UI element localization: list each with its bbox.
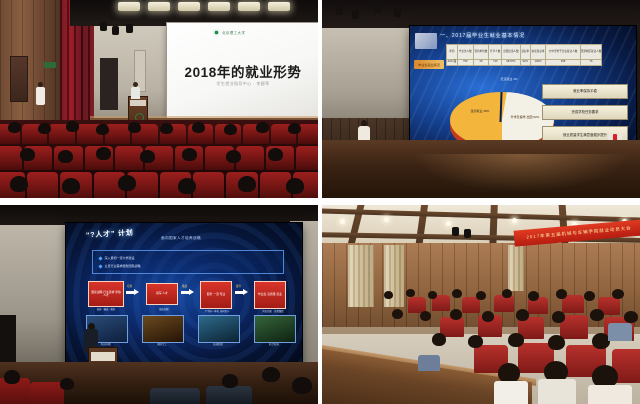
audience-body xyxy=(538,379,576,404)
podium-nameplate xyxy=(130,100,146,106)
audience-head xyxy=(428,291,437,299)
audience-head xyxy=(548,335,565,350)
thumbnail-label: 航空航天 xyxy=(254,342,294,346)
packed-hall-photo: 2017年第五届机械与车辆学院就业动员大会 xyxy=(322,205,640,404)
slide-thumbnail xyxy=(198,315,240,343)
audience-head xyxy=(38,123,51,134)
audience-head xyxy=(384,291,393,299)
data-table: 年份 毕业生人数 签约单位数 升学人数 出国出境人数 就业率 协议就业率 大中型… xyxy=(446,44,602,66)
flow-node: 领军 人才 xyxy=(146,283,178,305)
slide-title: “?人才” 计划 xyxy=(86,228,134,240)
audience-head xyxy=(288,123,301,134)
callout-box: 完成学校任务要求 xyxy=(542,105,628,120)
flow-arrow-label: 培养 xyxy=(127,284,132,288)
table-header-row: 年份 毕业生人数 签约单位数 升学人数 出国出境人数 就业率 协议就业率 大中型… xyxy=(447,45,602,60)
audience-head xyxy=(528,291,539,301)
led-screen: “?人才” 计划 面向国家人才培养战略 深入贯彻一流大学建设 立足行业需求服务国… xyxy=(66,223,302,365)
ceiling-light xyxy=(268,2,290,11)
audience-head xyxy=(268,148,283,161)
slide-section-tab-label: 毕业生就业情况 xyxy=(414,60,444,69)
flow-node-caption: 岗位匹配 · 全程跟踪 xyxy=(252,311,294,314)
bullet-item: 立足行业需求服务国家战略 xyxy=(99,264,141,268)
slide-thumbnail xyxy=(254,315,296,343)
audience-head xyxy=(552,311,565,323)
spot-light xyxy=(352,10,359,19)
audience-head xyxy=(292,377,312,394)
flow-arrow-icon: 输送 xyxy=(181,289,195,296)
slide-subtitle: 学生就业指导中心 · 李碧草 xyxy=(167,81,318,87)
podium-nameplate xyxy=(91,352,115,361)
led-presentation-photo: 一、2017届毕业生就业基本情况 毕业生就业情况 年份 毕业生人数 签约单位数 … xyxy=(322,0,640,198)
audience-head xyxy=(498,363,520,383)
audience-head xyxy=(624,311,638,323)
spot-light xyxy=(100,22,107,31)
flow-node-caption: 培养 · 输送 · 服务 xyxy=(86,309,126,312)
audience-head xyxy=(556,289,567,299)
flow-arrow-label: 提升 xyxy=(236,284,241,288)
audience-head xyxy=(392,309,403,319)
logo-mark-icon xyxy=(213,29,220,36)
ceiling-downlight xyxy=(446,221,451,226)
audience-body xyxy=(494,381,528,404)
photo-collage: 北京理工大学 2018年的就业形势 学生就业指导中心 · 李碧草 xyxy=(0,0,640,404)
bullet-diamond-icon xyxy=(98,256,102,260)
audience-head xyxy=(476,291,486,300)
table-header-cell: 年份 xyxy=(447,45,458,60)
audience-head xyxy=(58,150,73,163)
pie-label-signed: 签约就业 48% xyxy=(460,110,500,114)
university-logo: 北京理工大学 xyxy=(213,29,245,36)
ceiling-downlight xyxy=(384,217,389,222)
ceiling-light xyxy=(148,2,170,11)
laptop-desk xyxy=(206,386,252,404)
side-door xyxy=(10,56,28,102)
audience-body xyxy=(608,323,632,341)
ceiling-light xyxy=(118,2,140,11)
slide-section-tab: 毕业生就业情况 xyxy=(414,60,444,69)
table-cell: 100% xyxy=(530,60,546,66)
speaker-figure xyxy=(131,82,140,99)
audience-head xyxy=(452,289,462,298)
spot-light xyxy=(452,227,459,236)
seat xyxy=(296,146,318,170)
logo-text: 北京理工大学 xyxy=(222,30,245,35)
audience-head xyxy=(222,374,238,388)
audience-head xyxy=(182,148,197,161)
audience-head xyxy=(420,311,431,321)
audience-head xyxy=(20,148,35,161)
audience-head xyxy=(160,123,173,134)
audience-head xyxy=(4,370,20,384)
audience-head xyxy=(62,178,80,194)
table-cell: 98.87% xyxy=(502,60,521,66)
audience-head xyxy=(128,122,141,133)
floor-reflection xyxy=(412,154,630,192)
flow-node-caption: 产学研一体化 协同育人 xyxy=(196,311,238,314)
audience-head xyxy=(502,289,512,298)
slide-bullet-box: 深入贯彻一流大学建设 立足行业需求服务国家战略 xyxy=(92,250,284,274)
table-row: 2017届 769 26 740 98.87% 92% 100% 398 76 xyxy=(447,60,602,66)
audience-head xyxy=(286,178,304,194)
collage-panel-top-right: 一、2017届毕业生就业基本情况 毕业生就业情况 年份 毕业生人数 签约单位数 … xyxy=(322,0,640,198)
audience-head xyxy=(450,309,462,320)
audience-head xyxy=(590,309,604,321)
seat xyxy=(298,124,318,144)
collage-panel-bottom-left: “?人才” 计划 面向国家人才培养战略 深入贯彻一流大学建设 立足行业需求服务国… xyxy=(0,205,318,404)
spot-light xyxy=(464,229,471,238)
audience-head xyxy=(226,150,241,163)
table-cell: 76 xyxy=(580,60,602,66)
staff-body xyxy=(36,87,45,105)
ceiling-light xyxy=(208,2,230,11)
collage-panel-top-left: 北京理工大学 2018年的就业形势 学生就业指导中心 · 李碧草 xyxy=(0,0,318,198)
table-cell: 2017届 xyxy=(447,60,458,66)
bullet-text: 立足行业需求服务国家战略 xyxy=(105,264,141,268)
audience-head xyxy=(516,309,529,321)
table-header-cell: 签约单位数 xyxy=(473,45,489,60)
table-header-cell: 协议就业率 xyxy=(530,45,546,60)
pie-label-other: 灵活就业 4% xyxy=(486,78,532,82)
audience-head xyxy=(66,121,79,132)
slide-title: 一、2017届毕业生就业基本情况 xyxy=(440,32,630,39)
table-cell: 26 xyxy=(473,60,489,66)
audience-head xyxy=(178,178,196,194)
spot-light xyxy=(394,8,401,17)
flow-node: 国家战略 行业需求 紧缺人才 xyxy=(88,281,124,307)
table-cell: 740 xyxy=(489,60,502,66)
flow-node: 服务 一流 专业 xyxy=(200,281,232,309)
spot-light xyxy=(374,4,381,13)
seat xyxy=(193,172,224,198)
seat xyxy=(27,172,58,198)
seat xyxy=(0,146,22,170)
spot-light xyxy=(336,6,343,15)
speaker-body xyxy=(131,87,140,99)
audience-head xyxy=(508,333,524,347)
audience-head xyxy=(224,124,237,135)
flow-node: 毕业生 高质量 就业 xyxy=(254,281,286,309)
collage-panel-bottom-right: 2017年第五届机械与车辆学院就业动员大会 xyxy=(322,205,640,404)
audience-head xyxy=(468,335,483,348)
window-curtain xyxy=(348,245,374,307)
flow-arrow-icon: 培养 xyxy=(126,289,140,296)
ceiling-light xyxy=(178,2,200,11)
table-header-cell: 就业率 xyxy=(520,45,530,60)
table-header-cell: 大中型骨干企业就业人数 xyxy=(546,45,580,60)
audience-head xyxy=(584,291,595,301)
table-cell: 92% xyxy=(520,60,530,66)
slide-thumbnail xyxy=(142,315,184,343)
table-header-cell: 升学人数 xyxy=(489,45,502,60)
ceiling-light xyxy=(238,2,260,11)
flow-arrow-label: 输送 xyxy=(182,284,187,288)
audience-head xyxy=(432,333,446,346)
slide-subtitle: 面向国家人才培养战略 xyxy=(161,236,201,241)
audience-seating xyxy=(0,120,318,198)
audience-head xyxy=(60,378,74,390)
audience-head xyxy=(482,311,494,322)
table-cell: 398 xyxy=(546,60,580,66)
auditorium-photo: 北京理工大学 2018年的就业形势 学生就业指导中心 · 李碧草 xyxy=(0,0,318,198)
stage-side-opening xyxy=(100,58,118,110)
seat xyxy=(30,382,64,404)
ceiling-downlight xyxy=(340,219,345,224)
slide-title: 2018年的就业形势 xyxy=(167,61,318,81)
audience-head xyxy=(192,122,205,133)
bullet-item: 深入贯彻一流大学建设 xyxy=(99,256,135,260)
seat xyxy=(115,146,143,170)
audience-head xyxy=(612,289,624,299)
table-cell: 769 xyxy=(457,60,473,66)
table-header-cell: 西部地区就业人数 xyxy=(580,45,602,60)
audience-head xyxy=(262,367,280,382)
audience-head xyxy=(96,124,109,135)
audience-head xyxy=(10,176,28,192)
talent-plan-photo: “?人才” 计划 面向国家人才培养战略 深入贯彻一流大学建设 立足行业需求服务国… xyxy=(0,205,318,404)
spot-light xyxy=(126,24,133,33)
projection-screen: 北京理工大学 2018年的就业形势 学生就业指导中心 · 李碧草 xyxy=(167,23,318,127)
table-header-cell: 出国出境人数 xyxy=(502,45,521,60)
audience-head xyxy=(118,175,136,191)
window-curtain xyxy=(508,245,524,291)
bullet-diamond-icon xyxy=(98,264,102,268)
flow-arrow-icon: 提升 xyxy=(235,289,249,296)
screen-logo-icon xyxy=(415,33,437,49)
pie-label-further-study: 升学及留学 出国 52% xyxy=(504,116,546,120)
thumbnail-label: 国防军工 xyxy=(142,342,182,346)
table-header-cell: 毕业生人数 xyxy=(457,45,473,60)
audience-body xyxy=(588,385,632,404)
audience-head xyxy=(8,122,21,133)
exit-sign-icon xyxy=(44,62,56,68)
audience-head xyxy=(406,289,415,297)
laptop-desk xyxy=(150,388,200,404)
spot-light xyxy=(112,26,119,35)
audience-head xyxy=(238,176,256,192)
ceiling-downlight xyxy=(512,218,517,223)
flow-node-caption: 拔尖创新 xyxy=(144,309,184,312)
audience-head xyxy=(140,150,155,163)
callout-box: 就业率保持平稳 xyxy=(542,84,628,99)
audience-head xyxy=(256,122,269,133)
audience-head xyxy=(96,147,111,160)
audience-body xyxy=(418,355,440,371)
staff-figure xyxy=(36,82,45,112)
thumbnail-label: 高端制造 xyxy=(198,342,238,346)
bullet-text: 深入贯彻一流大学建设 xyxy=(105,256,135,260)
